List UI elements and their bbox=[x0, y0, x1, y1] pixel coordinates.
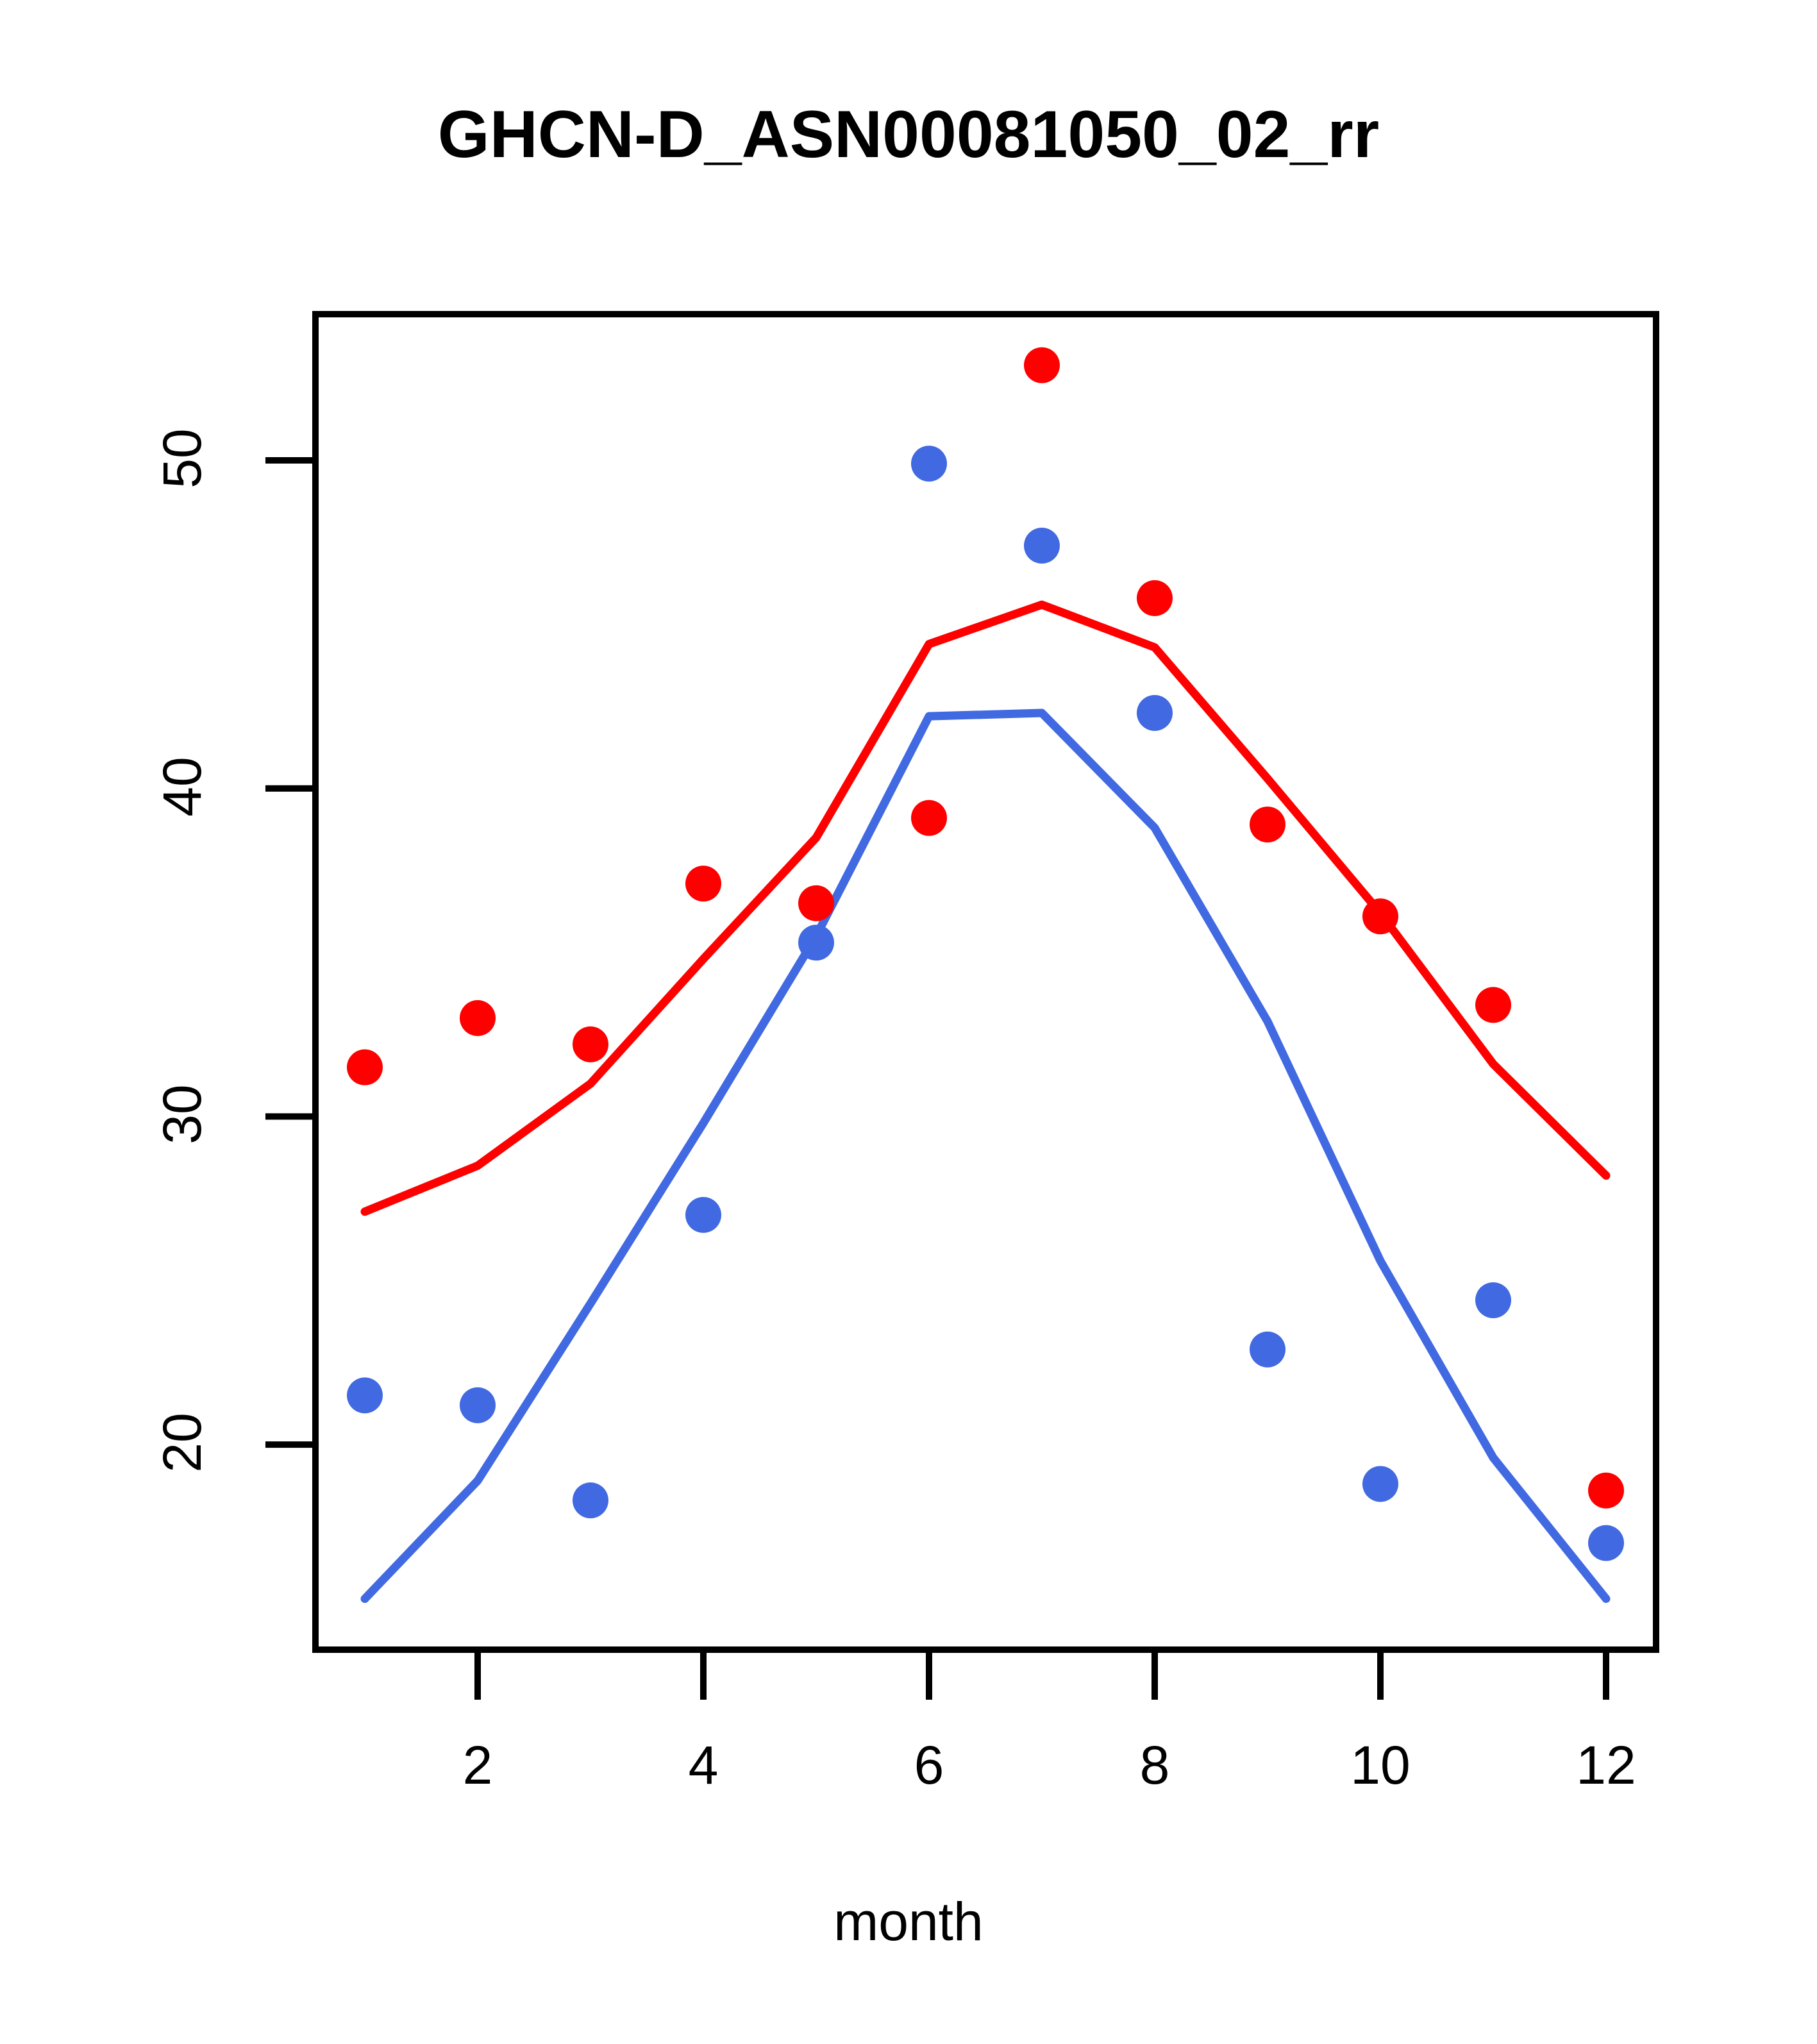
chart-page: GHCN-D_ASN00081050_02_rr 20304050 246810… bbox=[0, 0, 1817, 2044]
y-tick-label: 40 bbox=[155, 729, 209, 844]
data-point-blue-points bbox=[1475, 1282, 1511, 1318]
x-tick-label: 12 bbox=[1542, 1738, 1670, 1792]
data-point-blue-points bbox=[1250, 1332, 1285, 1368]
data-point-red-points bbox=[1250, 807, 1285, 842]
data-point-blue-points bbox=[1024, 528, 1060, 564]
x-tick-label: 6 bbox=[865, 1738, 993, 1792]
data-point-red-points bbox=[685, 866, 721, 901]
data-point-blue-points bbox=[1362, 1466, 1398, 1502]
data-point-red-points bbox=[573, 1026, 608, 1062]
data-point-red-points bbox=[798, 885, 834, 921]
x-tick-label: 10 bbox=[1316, 1738, 1444, 1792]
plot-area bbox=[0, 0, 1817, 2044]
x-tick-label: 4 bbox=[639, 1738, 767, 1792]
x-tick-label: 8 bbox=[1091, 1738, 1219, 1792]
data-point-red-points bbox=[1137, 580, 1173, 616]
series-lines bbox=[365, 605, 1606, 1598]
series-line-blue-line bbox=[365, 713, 1606, 1599]
data-point-red-points bbox=[460, 1000, 496, 1036]
plot-box bbox=[315, 314, 1656, 1650]
y-tick-label: 50 bbox=[155, 401, 209, 516]
y-tick-label: 30 bbox=[155, 1057, 209, 1172]
x-tick-label: 2 bbox=[414, 1738, 542, 1792]
data-point-blue-points bbox=[460, 1387, 496, 1423]
x-axis-ticks bbox=[478, 1650, 1606, 1700]
x-axis-title: month bbox=[0, 1895, 1817, 1948]
data-point-red-points bbox=[1362, 898, 1398, 934]
series-line-red-line bbox=[365, 605, 1606, 1212]
data-point-blue-points bbox=[798, 925, 834, 960]
data-point-blue-points bbox=[1588, 1525, 1624, 1561]
data-point-red-points bbox=[1024, 348, 1060, 383]
y-tick-label: 20 bbox=[155, 1385, 209, 1500]
y-axis-ticks bbox=[265, 460, 315, 1445]
data-point-red-points bbox=[911, 800, 947, 836]
data-point-blue-points bbox=[347, 1377, 383, 1413]
data-point-blue-points bbox=[685, 1197, 721, 1233]
plot-frame bbox=[315, 314, 1656, 1650]
data-point-blue-points bbox=[1137, 695, 1173, 731]
data-point-red-points bbox=[1588, 1473, 1624, 1509]
data-point-blue-points bbox=[911, 446, 947, 482]
data-point-red-points bbox=[347, 1050, 383, 1085]
data-point-red-points bbox=[1475, 987, 1511, 1023]
data-point-blue-points bbox=[573, 1482, 608, 1518]
